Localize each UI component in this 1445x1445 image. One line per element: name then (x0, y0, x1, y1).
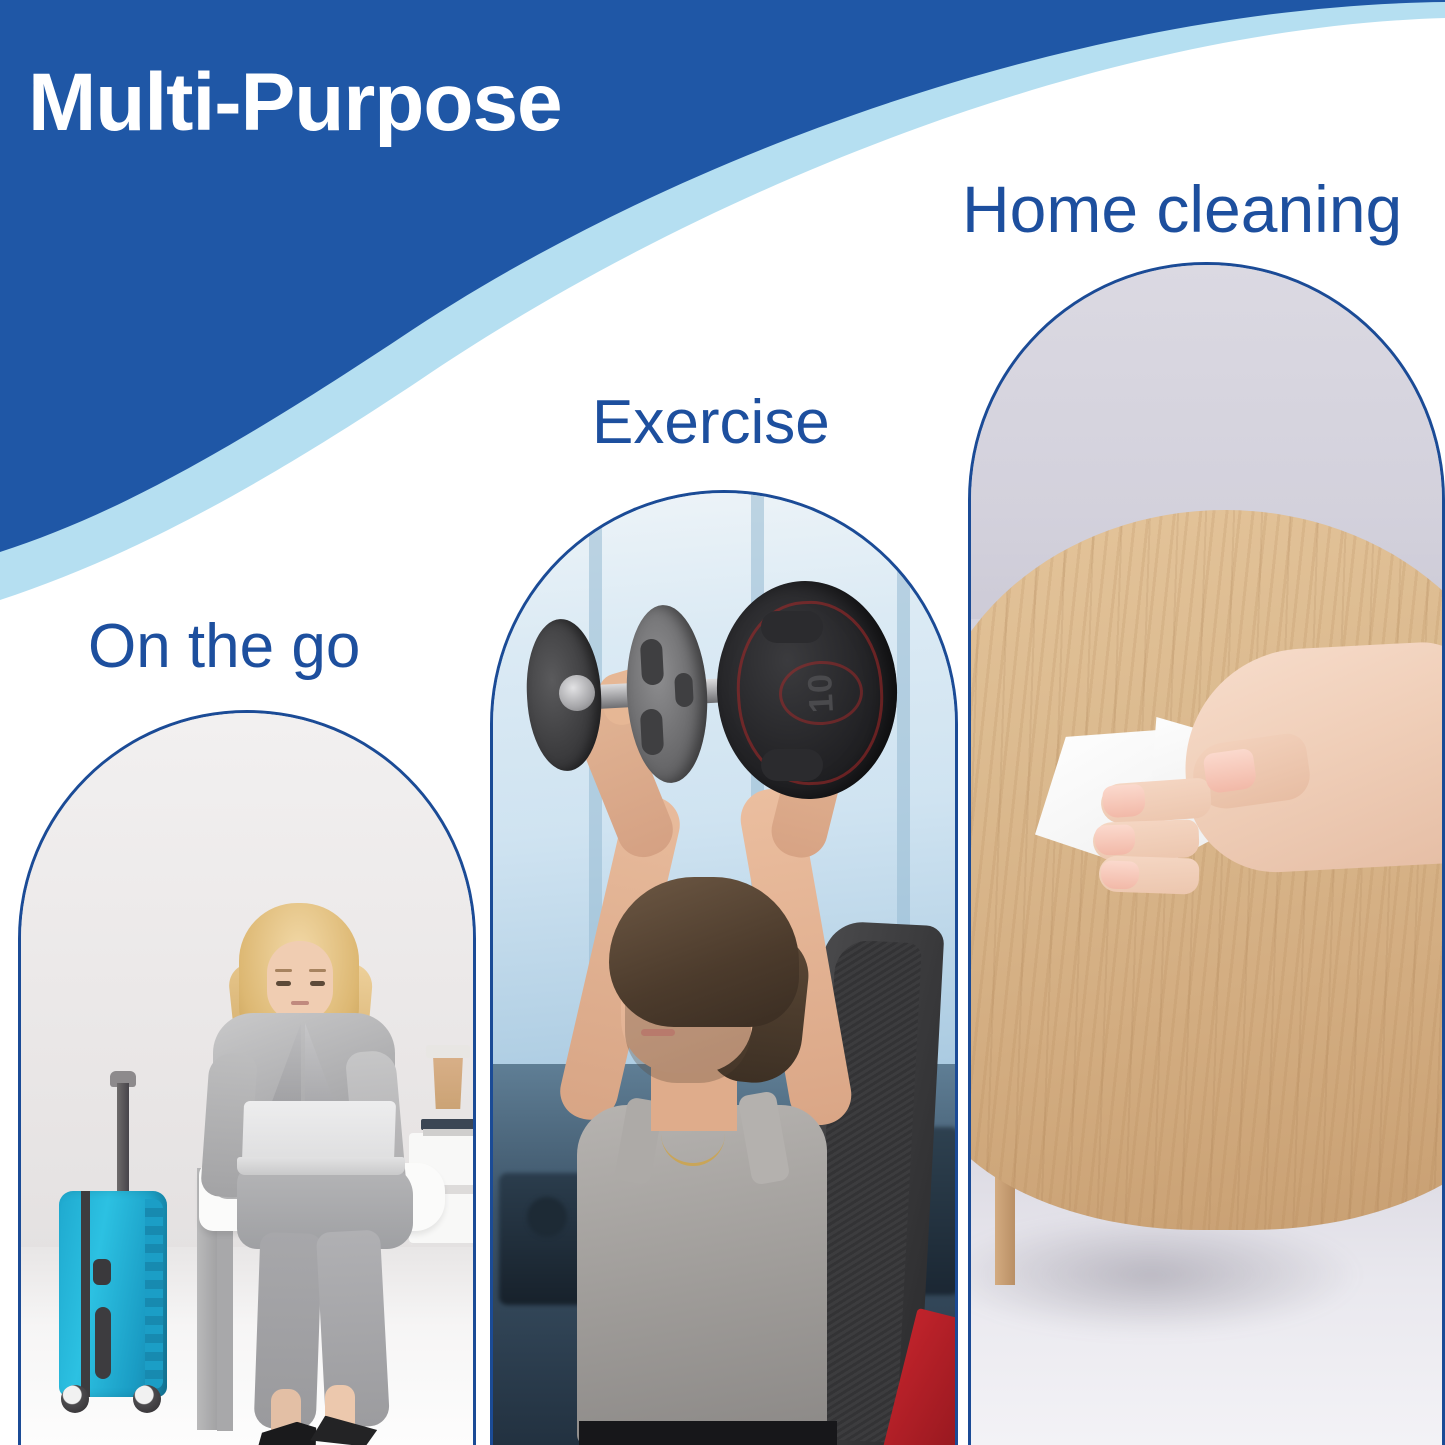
home-cleaning-scene (971, 265, 1442, 1445)
suitcase-handle-post (117, 1083, 129, 1197)
suitcase-side-grip (95, 1307, 111, 1379)
on-the-go-scene (21, 713, 473, 1445)
papers-stack-lower (423, 1129, 476, 1136)
coffee-cup-lid (426, 1045, 470, 1058)
eyebrow-right (309, 969, 326, 972)
panel-label-exercise: Exercise (592, 392, 830, 454)
table-shadow (968, 1215, 1361, 1335)
laptop-screen (242, 1101, 396, 1163)
background-plate-1 (527, 1197, 567, 1237)
waistband (579, 1421, 837, 1445)
panel-on-the-go (18, 710, 476, 1445)
mouth (291, 1001, 309, 1005)
plate-slot-top (761, 611, 823, 643)
mouth (641, 1029, 675, 1036)
plate-grip-hole-3 (674, 673, 694, 708)
hair (609, 877, 799, 1027)
suitcase-zipper (81, 1191, 90, 1397)
panel-label-on-the-go: On the go (88, 616, 360, 678)
multi-purpose-infographic: Multi-Purpose Home cleaning Exercise On … (0, 0, 1445, 1445)
suitcase-wheel-front-left (61, 1385, 89, 1413)
laptop-base (237, 1157, 405, 1175)
eyebrow-left (275, 969, 292, 972)
exercise-scene: 10 (493, 493, 955, 1445)
plate-slot-bottom (761, 749, 823, 781)
bench-leg-secondary (217, 1213, 233, 1431)
suitcase-wheel-front-right (133, 1385, 161, 1413)
suitcase-lock (93, 1259, 111, 1285)
wooden-table-top (968, 510, 1445, 1230)
plate-grip-hole-2 (640, 708, 664, 755)
fingernail-ring (1101, 860, 1140, 889)
panel-exercise: 10 (490, 490, 958, 1445)
coffee-cup (430, 1053, 466, 1109)
suitcase-ridges (145, 1199, 163, 1389)
eye-left (276, 981, 291, 986)
panel-home-cleaning (968, 262, 1445, 1445)
page-title: Multi-Purpose (28, 62, 562, 144)
fingernail-middle (1094, 824, 1135, 855)
fingernail-index (1102, 784, 1146, 819)
plate-grip-hole-1 (640, 638, 664, 685)
eye-right (310, 981, 325, 986)
panel-label-home-cleaning: Home cleaning (962, 176, 1402, 242)
